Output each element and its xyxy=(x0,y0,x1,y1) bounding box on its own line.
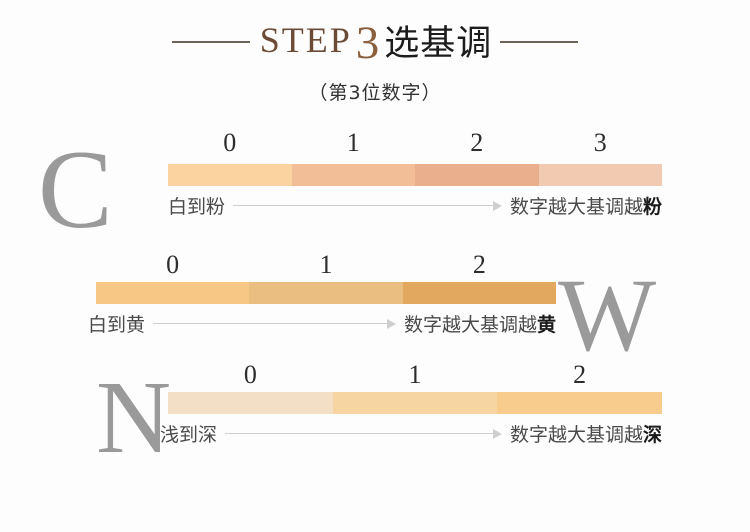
tone-letter-c: C xyxy=(38,134,113,246)
color-swatch xyxy=(333,392,498,414)
tick-label: 0 xyxy=(168,360,333,394)
tick-label: 1 xyxy=(333,360,498,394)
tone-row-w: W 0 1 2 白到黄 数字越大基调越黄 xyxy=(0,250,750,360)
color-bar-n xyxy=(168,392,662,414)
color-bar-c xyxy=(168,164,662,186)
legend-right-emphasis: 黄 xyxy=(537,314,556,336)
tick-label: 2 xyxy=(415,128,539,162)
arrow-icon xyxy=(153,317,396,329)
color-swatch xyxy=(168,392,333,414)
color-swatch xyxy=(403,282,556,304)
legend-right-prefix: 数字越大基调越 xyxy=(404,314,537,336)
step-label: STEP xyxy=(260,19,352,61)
step-number: 3 xyxy=(356,20,380,67)
arrow-icon xyxy=(225,427,502,439)
tick-labels-w: 0 1 2 xyxy=(96,250,556,284)
color-swatch xyxy=(497,392,662,414)
tick-label: 3 xyxy=(539,128,663,162)
tick-labels-c: 0 1 2 3 xyxy=(168,128,662,162)
page-header: STEP 3 选基调 xyxy=(0,14,750,66)
legend-w: 白到黄 数字越大基调越黄 xyxy=(88,308,556,338)
color-bar-w xyxy=(96,282,556,304)
header-rule-left xyxy=(172,41,250,43)
tick-label: 1 xyxy=(249,250,402,284)
tone-row-c: C 0 1 2 3 白到粉 数字越大基调越粉 xyxy=(0,128,750,238)
legend-left-label: 白到粉 xyxy=(168,192,225,219)
header-rule-right xyxy=(500,41,578,43)
page-title: 选基调 xyxy=(384,15,492,66)
legend-c: 白到粉 数字越大基调越粉 xyxy=(168,190,662,220)
tick-labels-n: 0 1 2 xyxy=(168,360,662,394)
legend-right-emphasis: 深 xyxy=(643,424,662,446)
color-swatch xyxy=(96,282,249,304)
tone-row-n: N 0 1 2 浅到深 数字越大基调越深 xyxy=(0,360,750,470)
tick-label: 0 xyxy=(96,250,249,284)
tick-label: 2 xyxy=(403,250,556,284)
legend-left-label: 浅到深 xyxy=(160,420,217,447)
legend-right-label: 数字越大基调越深 xyxy=(510,420,662,447)
tick-label: 0 xyxy=(168,128,292,162)
legend-right-prefix: 数字越大基调越 xyxy=(510,424,643,446)
legend-right-emphasis: 粉 xyxy=(643,196,662,218)
color-swatch xyxy=(292,164,416,186)
legend-left-label: 白到黄 xyxy=(88,310,145,337)
legend-n: 浅到深 数字越大基调越深 xyxy=(160,418,662,448)
arrow-icon xyxy=(233,199,502,211)
color-swatch xyxy=(539,164,663,186)
page-subtitle: （第3位数字） xyxy=(0,78,750,105)
color-swatch xyxy=(415,164,539,186)
tick-label: 1 xyxy=(292,128,416,162)
tone-letter-w: W xyxy=(558,264,656,368)
legend-right-label: 数字越大基调越黄 xyxy=(404,310,556,337)
tick-label: 2 xyxy=(497,360,662,394)
color-swatch xyxy=(249,282,402,304)
color-swatch xyxy=(168,164,292,186)
legend-right-prefix: 数字越大基调越 xyxy=(510,196,643,218)
legend-right-label: 数字越大基调越粉 xyxy=(510,192,662,219)
